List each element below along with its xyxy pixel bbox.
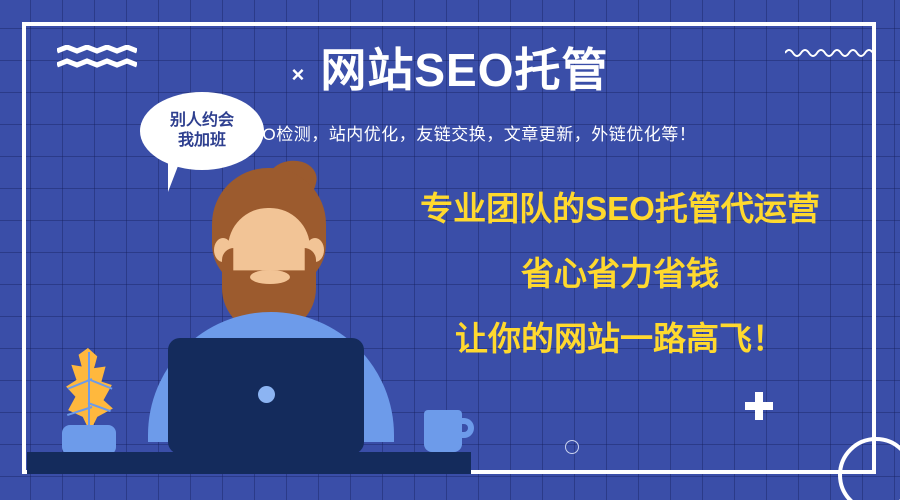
plant-pot [62, 425, 116, 455]
x-mark-icon: × [291, 64, 304, 86]
mouth [250, 270, 290, 284]
header-title-row: × 网站SEO托管 [0, 45, 900, 96]
speech-bubble-line-2: 我加班 [178, 131, 226, 151]
slogan-line-3: 让你的网站一路高飞！ [370, 322, 870, 355]
speech-bubble-line-1: 别人约会 [170, 111, 234, 131]
page-title: 网站SEO托管 [320, 45, 608, 96]
slogan-line-2: 省心省力省钱 [370, 257, 870, 290]
seo-promo-banner: 别人约会 我加班 × 网站SEO托管 含：SEO检测，站内优化，友链交换，文章更… [0, 0, 900, 500]
page-subtitle: 含：SEO检测，站内优化，友链交换，文章更新，外链优化等！ [0, 120, 900, 145]
speech-bubble: 别人约会 我加班 [140, 92, 264, 170]
slogan-line-1: 专业团队的SEO托管代运营 [370, 192, 870, 225]
slogan-list: 专业团队的SEO托管代运营 省心省力省钱 让你的网站一路高飞！ [370, 192, 870, 355]
laptop-logo-icon [258, 386, 275, 403]
desk-surface [27, 452, 471, 474]
leaf-vein [88, 352, 90, 430]
plant-leaf-icon [64, 348, 116, 432]
coffee-mug-icon [424, 410, 462, 452]
